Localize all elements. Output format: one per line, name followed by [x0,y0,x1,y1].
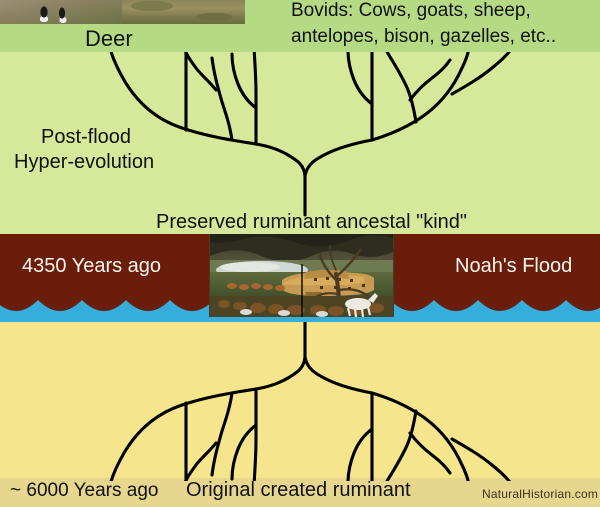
label-post-flood-line1: Post-flood [41,126,131,149]
diagram-canvas: Deer Bovids: Cows, goats, sheep, antelop… [0,0,600,507]
label-bovids-line2: antelopes, bison, gazelles, etc.. [291,26,556,48]
label-deer: Deer [85,26,133,52]
watermark: NaturalHistorian.com [482,487,598,501]
label-years-4350: 4350 Years ago [22,255,161,278]
deer-habitat-photo [122,0,245,24]
pre-flood-tree [0,316,600,481]
label-noahs-flood: Noah's Flood [455,255,572,278]
label-years-6000: ~ 6000 Years ago [10,480,158,502]
deer-photo [0,0,122,24]
noahs-ark-painting [209,234,394,317]
deer-photo-strip [0,0,245,24]
label-post-flood-line2: Hyper-evolution [14,151,154,174]
label-preserved-kind: Preserved ruminant ancestal "kind" [156,211,467,234]
label-original-ruminant: Original created ruminant [186,479,411,502]
label-bovids-line1: Bovids: Cows, goats, sheep, [291,0,531,22]
